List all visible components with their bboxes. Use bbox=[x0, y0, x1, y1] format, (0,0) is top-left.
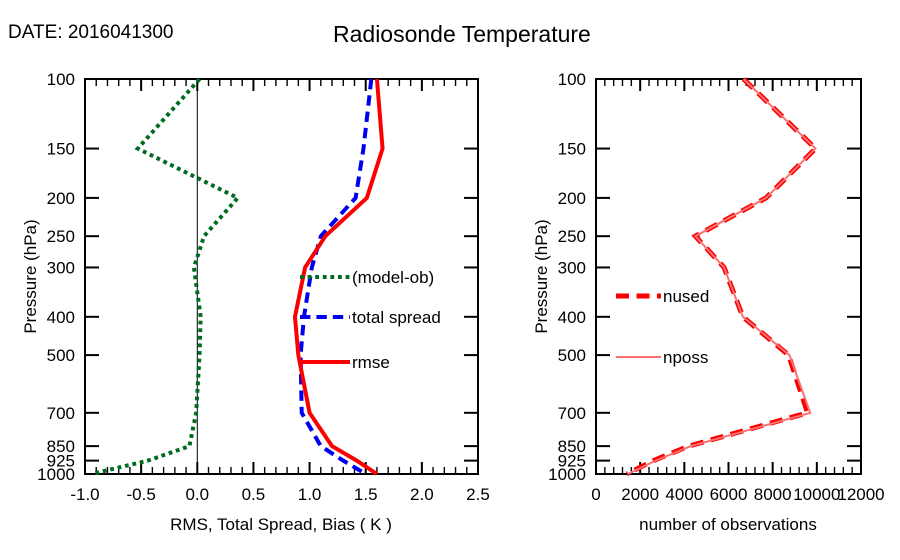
x-tick-label: 2000 bbox=[621, 485, 659, 504]
y-tick-label: 250 bbox=[47, 227, 75, 246]
y-tick-label: 400 bbox=[47, 308, 75, 327]
radiosonde-temperature-figure: DATE: 2016041300 Radiosonde Temperature … bbox=[0, 0, 900, 560]
x-axis-title: number of observations bbox=[639, 515, 817, 534]
y-tick-label: 100 bbox=[558, 70, 586, 89]
x-tick-label: -0.5 bbox=[126, 485, 155, 504]
x-tick-label: 2.0 bbox=[410, 485, 434, 504]
y-tick-label: 200 bbox=[47, 189, 75, 208]
legend-label: (model-ob) bbox=[352, 268, 434, 287]
x-tick-label: -1.0 bbox=[70, 485, 99, 504]
y-tick-label: 250 bbox=[558, 227, 586, 246]
x-tick-label: 1.0 bbox=[298, 485, 322, 504]
legend-label: total spread bbox=[352, 308, 441, 327]
x-tick-label: 4000 bbox=[665, 485, 703, 504]
x-axis-title: RMS, Total Spread, Bias ( K ) bbox=[170, 515, 392, 534]
x-tick-label: 10000 bbox=[793, 485, 840, 504]
y-axis-title: Pressure (hPa) bbox=[21, 219, 40, 333]
x-tick-label: 0.5 bbox=[242, 485, 266, 504]
y-axis-title: Pressure (hPa) bbox=[532, 219, 551, 333]
y-tick-label: 1000 bbox=[37, 465, 75, 484]
x-tick-label: 0.0 bbox=[185, 485, 209, 504]
y-tick-label: 300 bbox=[47, 258, 75, 277]
y-tick-label: 100 bbox=[47, 70, 75, 89]
y-tick-label: 700 bbox=[47, 404, 75, 423]
y-tick-label: 500 bbox=[558, 346, 586, 365]
background bbox=[0, 0, 900, 560]
y-tick-label: 150 bbox=[558, 140, 586, 159]
date-label: DATE: 2016041300 bbox=[8, 22, 174, 43]
y-tick-label: 300 bbox=[558, 258, 586, 277]
x-tick-label: 0 bbox=[591, 485, 600, 504]
y-tick-label: 700 bbox=[558, 404, 586, 423]
legend-label: rmse bbox=[352, 353, 390, 372]
y-tick-label: 1000 bbox=[548, 465, 586, 484]
x-tick-label: 12000 bbox=[837, 485, 884, 504]
x-tick-label: 2.5 bbox=[466, 485, 490, 504]
y-tick-label: 500 bbox=[47, 346, 75, 365]
figure-canvas: DATE: 2016041300 Radiosonde Temperature … bbox=[0, 0, 900, 560]
page-title: Radiosonde Temperature bbox=[333, 21, 591, 47]
y-tick-label: 150 bbox=[47, 140, 75, 159]
x-tick-label: 8000 bbox=[754, 485, 792, 504]
y-tick-label: 400 bbox=[558, 308, 586, 327]
x-tick-label: 1.5 bbox=[354, 485, 378, 504]
y-tick-label: 200 bbox=[558, 189, 586, 208]
x-tick-label: 6000 bbox=[710, 485, 748, 504]
legend-label: nused bbox=[663, 287, 709, 306]
legend-label: nposs bbox=[663, 348, 708, 367]
